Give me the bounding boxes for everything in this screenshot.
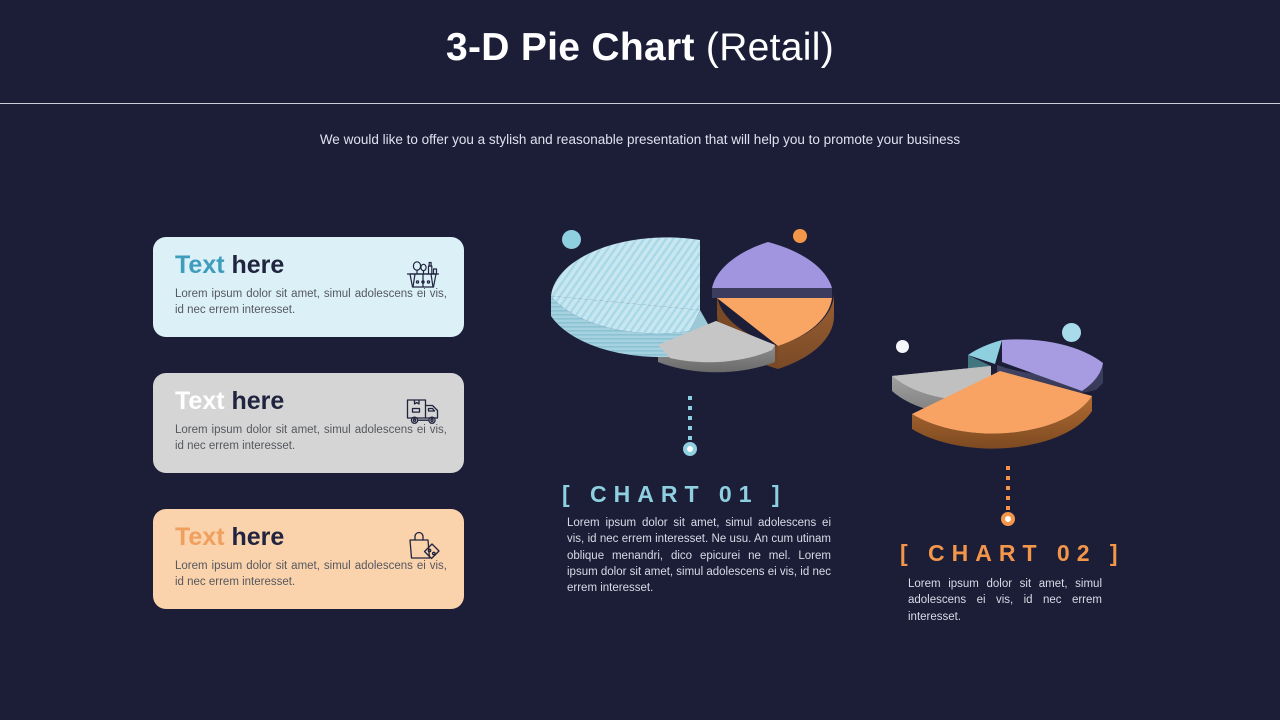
feature-card-1[interactable]: Text here Lorem ipsum dolor sit amet, si… [153, 237, 464, 337]
chart-02-connector [998, 466, 1018, 528]
page-title-light: (Retail) [706, 26, 834, 69]
pie-chart-01[interactable] [540, 218, 860, 393]
chart-01-connector-dots [688, 396, 692, 446]
pie-chart-02[interactable] [890, 318, 1120, 458]
page-title-strong: 3-D Pie Chart [446, 26, 706, 69]
feature-card-2-heading-accent: Text [175, 387, 225, 415]
chart-01-connector [680, 396, 700, 458]
feature-card-3[interactable]: Text here Lorem ipsum dolor sit amet, si… [153, 509, 464, 609]
slide-root: 3-D Pie Chart (Retail) We would like to … [0, 0, 1280, 720]
feature-card-3-heading-accent: Text [175, 523, 225, 551]
shopping-basket-icon [403, 254, 443, 294]
feature-card-3-heading-rest: here [225, 523, 285, 551]
page-title: 3-D Pie Chart (Retail) [0, 26, 1280, 70]
header-divider [0, 103, 1280, 104]
feature-card-2-heading-rest: here [225, 387, 285, 415]
delivery-truck-icon [403, 390, 443, 430]
feature-card-2[interactable]: Text here Lorem ipsum dolor sit amet, si… [153, 373, 464, 473]
chart-01-label: [ CHART 01 ] [562, 481, 787, 508]
feature-card-1-heading-accent: Text [175, 251, 225, 279]
chart-02-connector-knob [1001, 512, 1015, 526]
shopping-bag-tag-icon [403, 526, 443, 566]
chart-02-connector-dots [1006, 466, 1010, 516]
chart-01-description: Lorem ipsum dolor sit amet, simul adoles… [567, 515, 831, 597]
chart-02-description: Lorem ipsum dolor sit amet, simul adoles… [908, 576, 1102, 625]
feature-card-1-heading-rest: here [225, 251, 285, 279]
chart-01-connector-knob [683, 442, 697, 456]
slide-header: 3-D Pie Chart (Retail) [0, 0, 1280, 104]
page-subtitle: We would like to offer you a stylish and… [0, 132, 1280, 147]
chart-02-label: [ CHART 02 ] [900, 540, 1125, 567]
